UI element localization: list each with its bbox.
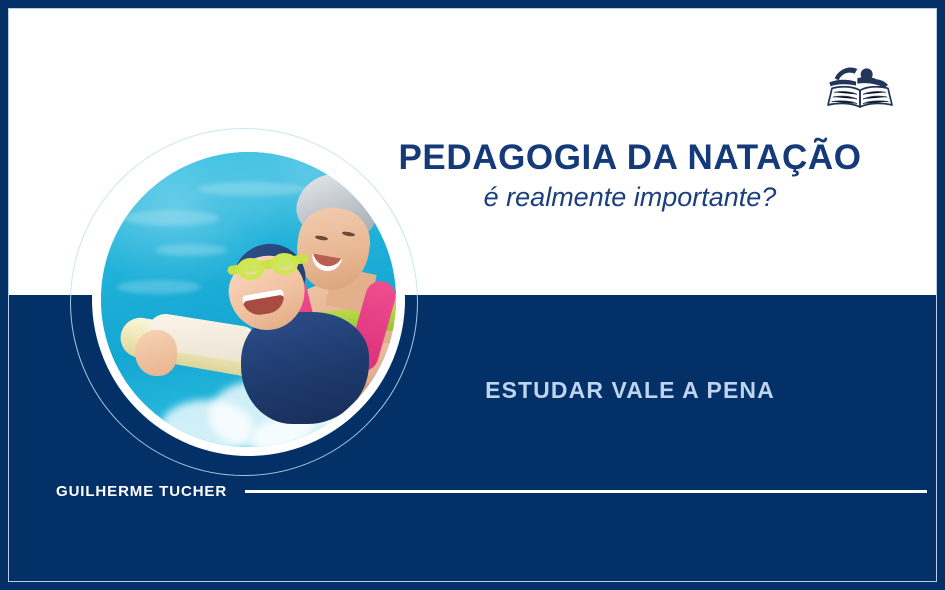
water-ripple [197, 182, 307, 196]
swimmer-over-book-logo [820, 58, 900, 112]
child-goggle-lens [237, 258, 264, 280]
water-splash [161, 400, 253, 447]
child-hand [135, 330, 177, 376]
child-goggle-lens [271, 253, 298, 275]
headline-block: PEDAGOGIA DA NATAÇÃO é realmente importa… [375, 138, 885, 213]
photo-clip [101, 152, 396, 447]
swim-lesson-photo [92, 143, 405, 456]
page-subtitle: é realmente importante? [375, 183, 885, 213]
water-ripple [155, 244, 227, 256]
author-divider-rule [245, 490, 927, 493]
water-ripple [123, 210, 219, 226]
author-footer: GUILHERME TUCHER [56, 483, 929, 500]
page-title: PEDAGOGIA DA NATAÇÃO [375, 138, 885, 177]
water-ripple [117, 280, 201, 294]
author-name: GUILHERME TUCHER [56, 483, 227, 500]
poster-canvas: PEDAGOGIA DA NATAÇÃO é realmente importa… [0, 0, 945, 590]
tagline-text: ESTUDAR VALE A PENA [375, 377, 885, 404]
